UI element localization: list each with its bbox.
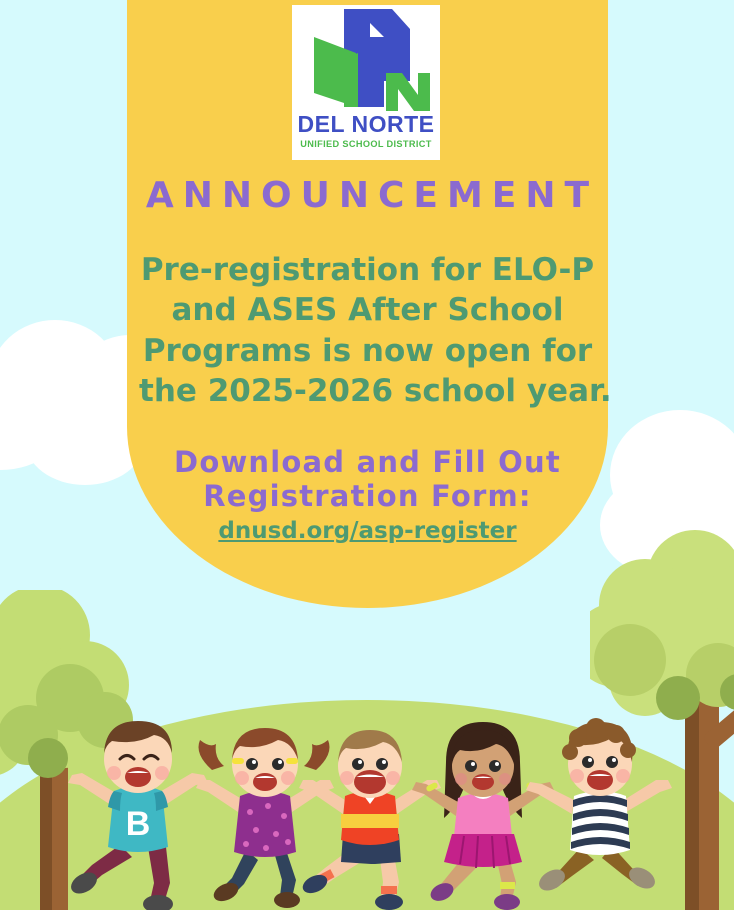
announcement-poster: DEL NORTE UNIFIED SCHOOL DISTRICT ANNOUN… (0, 0, 734, 910)
body-copy: Pre-registration for ELO-P and ASES Afte… (127, 250, 608, 411)
cta-line-2: Registration Form: (127, 479, 608, 513)
tree-right-foliage-icon (590, 520, 734, 750)
announcement-heading: ANNOUNCEMENT (127, 178, 608, 214)
svg-text:B: B (126, 805, 151, 843)
cta-line-1: Download and Fill Out (127, 445, 608, 479)
body-line-4: the 2025-2026 school year. (139, 371, 596, 411)
poster-content: ANNOUNCEMENT Pre-registration for ELO-P … (127, 0, 608, 544)
body-line-3: Programs is now open for (139, 331, 596, 371)
kid-boy-striped-shirt (520, 718, 680, 908)
registration-url-link[interactable]: dnusd.org/asp-register (127, 518, 608, 544)
body-line-1: Pre-registration for ELO-P (139, 250, 596, 290)
body-line-2: and ASES After School (139, 290, 596, 330)
cta-text: Download and Fill Out Registration Form: (127, 445, 608, 513)
